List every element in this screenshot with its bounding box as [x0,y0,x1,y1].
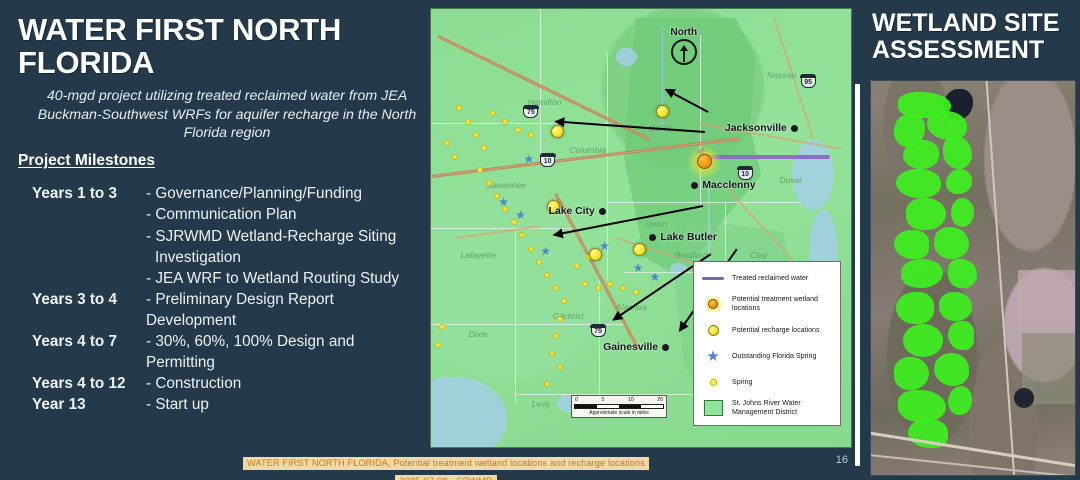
panel-divider [855,84,860,466]
spring-icon [473,132,479,138]
county-label: Dixie [469,329,488,339]
caption: WATER FIRST NORTH FLORIDA, Potential tre… [236,453,656,480]
county-label: Hamilton [528,97,562,107]
wetland-polygon [951,198,975,227]
wetland-polygon [903,324,943,357]
caption-line-2: 2025-07-08 --SRWMD [395,475,496,480]
star-icon: ★ [700,346,726,366]
milestone-tasks: - Start up [146,394,418,415]
treatment-wetland-icon [700,294,726,314]
milestone-task: - Governance/Planning/Funding [146,183,418,204]
city-lake-butler: Lake Butler [649,232,717,243]
spring-icon [486,180,492,186]
wetland-polygon [896,169,941,198]
recharge-icon [700,320,726,340]
spring-icon [477,167,483,173]
interstate-shield-icon: 10 [540,154,555,167]
wetland-polygon [939,292,972,321]
milestone-row: Years 4 to 12 - Construction [18,373,418,394]
milestone-row: - SJRWMD Wetland-Recharge Siting Investi… [18,226,418,268]
milestone-row: Years 1 to 3 - Governance/Planning/Fundi… [18,183,418,204]
city-lake-city: Lake City [549,206,606,217]
legend-item-pipeline: Treated reclaimed water [700,268,834,288]
potential-recharge-location[interactable] [589,248,602,261]
milestone-years: Years 4 to 12 [18,373,146,394]
city-label: Gainesville [603,342,658,353]
spring-icon [502,119,508,125]
county-label: Levy [532,399,550,409]
milestone-task: - Construction [146,373,418,394]
county-label: Nassau [767,70,796,80]
milestone-task: - SJRWMD Wetland-Recharge Siting Investi… [146,226,418,268]
scale-tick: 5 [601,397,604,403]
milestone-tasks: - Construction [146,373,418,394]
outstanding-florida-spring-icon: ★ [540,246,551,257]
florida-map[interactable]: 75 10 10 95 75 Hamilton Columbia Baker N… [430,8,852,448]
spring-icon [528,132,534,138]
city-dot-icon [662,344,669,351]
water-body [616,48,637,66]
legend-label: St. Johns River Water Management Distric… [732,399,834,417]
spring-icon [452,154,458,160]
aerial-field [1018,270,1075,325]
outstanding-florida-spring-icon: ★ [523,154,534,165]
potential-recharge-location[interactable] [633,243,646,256]
milestone-task: - Preliminary Design Report Development [146,289,418,331]
interstate-shield-icon: 75 [591,324,606,337]
interstate-shield-icon: 95 [801,75,816,88]
spring-icon [528,246,534,252]
legend-item-outstanding-florida-spring: ★ Outstanding Florida Spring [700,346,834,366]
county-label: Union [645,219,667,229]
outstanding-florida-spring-icon: ★ [649,272,660,283]
legend-item-recharge: Potential recharge locations [700,320,834,340]
milestone-years: Years 4 to 7 [18,331,146,352]
milestones-list: Years 1 to 3 - Governance/Planning/Fundi… [18,183,418,415]
wetland-polygon [927,111,967,140]
spring-icon [553,285,559,291]
legend-label: Treated reclaimed water [732,274,808,283]
milestone-row: - JEA WRF to Wetland Routing Study [18,268,418,289]
city-dot-icon [791,125,798,132]
wetland-polygon [948,321,974,350]
north-label: North [670,27,697,38]
spring-icon [700,372,726,392]
milestone-row: - Communication Plan [18,204,418,225]
treatment-node-core [697,154,712,169]
slide-root: WATER FIRST NORTH FLORIDA 40-mgd project… [0,0,1080,480]
milestone-years: Years 1 to 3 [18,183,146,204]
county-label: Clay [750,250,767,260]
city-label: Lake City [549,206,595,217]
milestone-years: Year 13 [18,394,146,415]
wetland-polygon [943,136,971,169]
city-macclenny: Macclenny [691,180,755,191]
spring-icon [465,119,471,125]
aerial-photo-wetland-site[interactable] [870,80,1076,476]
milestone-row: Year 13 - Start up [18,394,418,415]
milestone-row: Years 4 to 7 - 30%, 60%, 100% Design and… [18,331,418,373]
wetland-polygon [948,259,976,288]
caption-line-1: WATER FIRST NORTH FLORIDA, Potential tre… [243,457,649,470]
scale-caption: Approximate scale in miles [574,410,664,416]
north-arrow-icon [671,39,697,65]
city-label: Jacksonville [725,123,787,134]
right-panel: WETLAND SITE ASSESSMENT [862,0,1080,480]
left-text-panel: WATER FIRST NORTH FLORIDA 40-mgd project… [0,0,430,480]
milestone-task: - JEA WRF to Wetland Routing Study [146,268,418,289]
milestone-tasks: - 30%, 60%, 100% Design and Permitting [146,331,418,373]
spring-icon [549,351,555,357]
county-boundary [431,228,574,229]
aerial-pond [1014,388,1034,408]
milestone-years: Years 3 to 4 [18,289,146,310]
wetland-polygon [901,259,944,288]
legend-label: Potential treatment wetland locations [732,295,834,313]
outstanding-florida-spring-icon: ★ [498,197,509,208]
spring-icon [553,333,559,339]
interstate-shield-icon: 10 [738,167,753,180]
milestone-task: - Communication Plan [146,204,418,225]
milestone-tasks: - Preliminary Design Report Development [146,289,418,331]
wetland-polygon [946,169,972,194]
spring-icon [536,259,542,265]
milestones-heading: Project Milestones [18,152,418,170]
outstanding-florida-spring-icon: ★ [633,263,644,274]
wetland-polygon [934,227,969,260]
spring-icon [557,364,563,370]
milestone-tasks: - Communication Plan [146,204,418,225]
city-dot-icon [691,182,698,189]
county-boundary [515,228,516,403]
outstanding-florida-spring-icon: ★ [515,210,526,221]
slide-number: 16 [836,454,848,466]
spring-icon [490,110,496,116]
wetland-polygon-overlay [891,89,1009,451]
county-boundary [607,202,699,203]
milestone-task: - 30%, 60%, 100% Design and Permitting [146,331,418,373]
north-arrow: North [670,27,697,65]
wetland-polygon [894,230,929,259]
county-boundary [691,202,800,203]
legend-label: Outstanding Florida Spring [732,352,816,361]
county-label: Duval [780,175,802,185]
milestone-task: - Start up [146,394,418,415]
county-label: Lafayette [460,250,495,260]
legend-item-treatment-wetland: Potential treatment wetland locations [700,294,834,314]
spring-icon [607,281,613,287]
scale-tick: 20 [657,397,663,403]
spring-icon [620,285,626,291]
wetland-polygon [894,357,929,390]
subtitle: 40-mgd project utilizing treated reclaim… [18,87,418,144]
scale-tick: 10 [628,397,634,403]
potential-treatment-wetland-location[interactable] [687,145,721,179]
spring-icon [574,263,580,269]
page-title: WATER FIRST NORTH FLORIDA [18,14,418,80]
scale-blocks [574,404,664,409]
milestone-tasks: - SJRWMD Wetland-Recharge Siting Investi… [146,226,418,268]
wetland-polygon [898,390,945,423]
wetland-polygon [896,292,934,325]
wetland-polygon [948,386,972,415]
wetland-polygon [903,140,938,169]
city-gainesville: Gainesville [603,342,669,353]
city-label: Macclenny [702,180,755,191]
pipeline-icon [700,268,726,288]
wetland-polygon [934,353,969,386]
spring-icon [633,289,639,295]
potential-recharge-location[interactable] [656,105,669,118]
legend-item-spring: Spring [700,372,834,392]
city-dot-icon [599,208,606,215]
city-label: Lake Butler [660,232,717,243]
map-legend: Treated reclaimed water Potential treatm… [693,261,841,426]
county-label: Columbia [570,145,606,155]
district-swatch-icon [700,398,726,418]
spring-icon [557,316,563,322]
city-jacksonville: Jacksonville [725,123,798,134]
milestone-row: Years 3 to 4 - Preliminary Design Report… [18,289,418,331]
city-dot-icon [649,234,656,241]
spring-icon [595,285,601,291]
milestone-tasks: - JEA WRF to Wetland Routing Study [146,268,418,289]
legend-label: Spring [732,378,753,387]
county-label: Suwannee [486,180,527,190]
scale-tick: 0 [575,397,578,403]
scale-tick-labels: 0 5 10 20 [574,397,664,403]
legend-label: Potential recharge locations [732,326,820,335]
wetland-polygon [906,198,946,231]
right-panel-title: WETLAND SITE ASSESSMENT [862,0,1080,64]
map-scale-bar: 0 5 10 20 Approximate scale in miles [571,395,667,418]
milestone-tasks: - Governance/Planning/Funding [146,183,418,204]
legend-item-district: St. Johns River Water Management Distric… [700,398,834,418]
spring-icon [582,281,588,287]
